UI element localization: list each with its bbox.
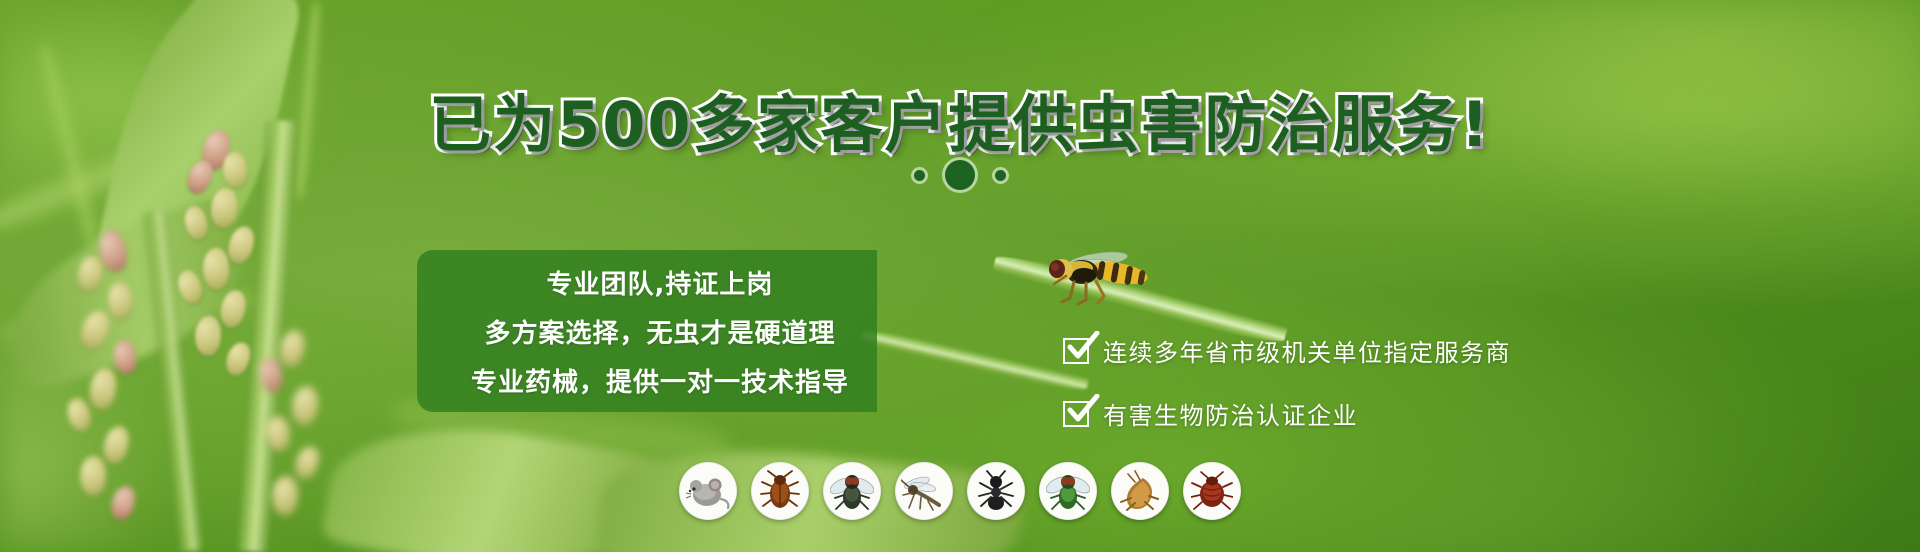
mouse-icon[interactable]	[679, 462, 737, 520]
cockroach-icon[interactable]	[751, 462, 809, 520]
credential-label: 连续多年省市级机关单位指定服务商	[1103, 333, 1511, 368]
flower-spike	[60, 230, 180, 530]
dot-small-left	[914, 170, 925, 181]
ant-icon[interactable]	[967, 462, 1025, 520]
credential-list: 连续多年省市级机关单位指定服务商 有害生物防治认证企业	[1063, 333, 1511, 431]
feature-panel-text: 专业团队,持证上岗 多方案选择，无虫才是硬道理 专业药械，提供一对一技术指导	[417, 250, 877, 412]
decorative-dots	[0, 160, 1920, 190]
promo-banner: 已为500多家客户提供虫害防治服务! 专业团队,持证上岗 多方案选择，无虫才是硬…	[0, 0, 1920, 552]
feature-line-2: 多方案选择，无虫才是硬道理	[484, 313, 835, 350]
dot-large-center	[945, 160, 975, 190]
bedbug-icon[interactable]	[1183, 462, 1241, 520]
mosquito-icon[interactable]	[895, 462, 953, 520]
blowfly-icon[interactable]	[1039, 462, 1097, 520]
dot-small-right	[995, 170, 1006, 181]
hoverfly-icon	[1040, 248, 1160, 306]
check-square-icon	[1063, 401, 1089, 427]
credential-label: 有害生物防治认证企业	[1103, 396, 1358, 431]
feature-line-1: 专业团队,持证上岗	[547, 264, 774, 301]
pest-icon-row	[679, 462, 1241, 520]
credential-item: 连续多年省市级机关单位指定服务商	[1063, 333, 1511, 368]
fly-icon[interactable]	[823, 462, 881, 520]
credential-item: 有害生物防治认证企业	[1063, 396, 1511, 431]
banner-headline: 已为500多家客户提供虫害防治服务!	[0, 74, 1920, 164]
check-square-icon	[1063, 338, 1089, 364]
flea-icon[interactable]	[1111, 462, 1169, 520]
feature-line-3: 专业药械，提供一对一技术指导	[471, 362, 849, 399]
banner-headline-text: 已为500多家客户提供虫害防治服务!	[429, 88, 1491, 161]
